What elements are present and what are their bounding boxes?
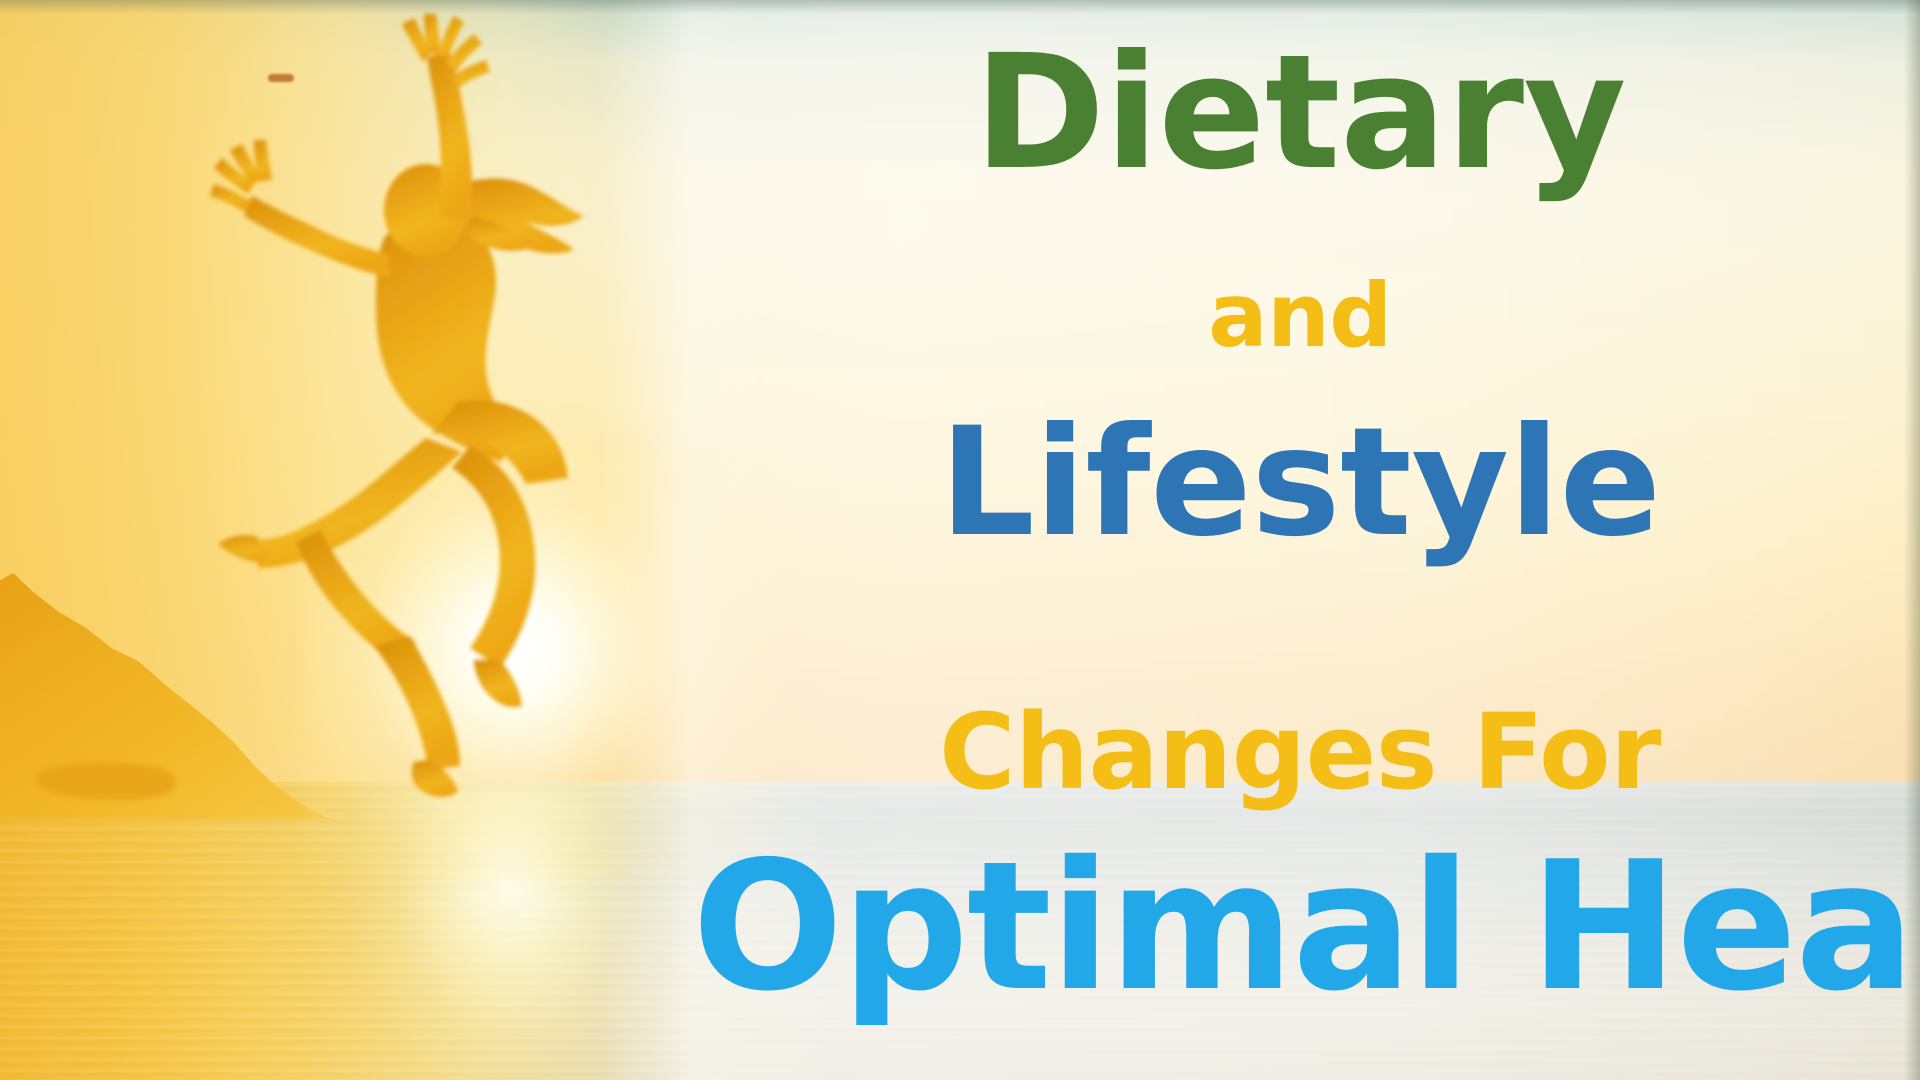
poster-canvas: Dietary and Lifestyle Changes For Optima… <box>0 0 1920 1080</box>
title-line-changes-for: Changes For <box>680 700 1920 804</box>
title-line-optimal-health: Optimal Health <box>692 838 1920 1016</box>
title-line-dietary: Dietary <box>680 34 1920 192</box>
title-line-lifestyle: Lifestyle <box>680 408 1920 558</box>
title-line-and: and <box>680 272 1920 360</box>
title-block: Dietary and Lifestyle Changes For Optima… <box>680 0 1920 1080</box>
